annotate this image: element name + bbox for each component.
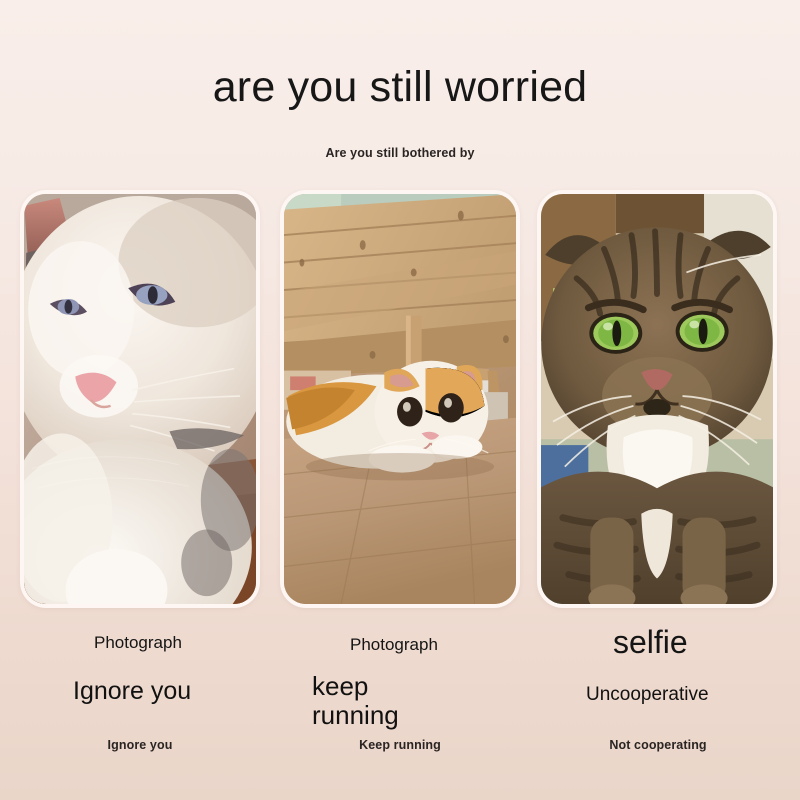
photo-card-3[interactable] bbox=[537, 190, 777, 608]
caption-main-2: keep running bbox=[312, 672, 432, 730]
caption-column-1: Photograph Ignore you Ignore you bbox=[10, 612, 270, 800]
caption-kind-1: Photograph bbox=[94, 632, 190, 653]
poster-root: are you still worried Are you still both… bbox=[0, 0, 800, 800]
cat-photo-under-bed bbox=[284, 194, 516, 604]
cat-photo-white-cat bbox=[24, 194, 256, 604]
page-subtitle: Are you still bothered by bbox=[0, 146, 800, 160]
caption-sub-1: Ignore you bbox=[10, 738, 270, 752]
caption-row: Photograph Ignore you Ignore you Photogr… bbox=[0, 612, 800, 800]
caption-column-2: Photograph keep running Keep running bbox=[270, 612, 530, 800]
caption-sub-2: Keep running bbox=[270, 738, 530, 752]
caption-kind-2: Photograph bbox=[350, 634, 446, 655]
photo-card-1[interactable] bbox=[20, 190, 260, 608]
page-title: are you still worried bbox=[0, 64, 800, 111]
photo-card-2[interactable] bbox=[280, 190, 520, 608]
photo-card-row bbox=[0, 190, 800, 610]
caption-column-3: selfie Uncooperative Not cooperating bbox=[528, 612, 788, 800]
caption-sub-3: Not cooperating bbox=[528, 738, 788, 752]
cat-photo-grumpy-tabby bbox=[541, 194, 773, 604]
caption-main-3: Uncooperative bbox=[586, 684, 709, 705]
caption-main-1: Ignore you bbox=[73, 677, 191, 705]
caption-kind-3: selfie bbox=[613, 622, 688, 662]
